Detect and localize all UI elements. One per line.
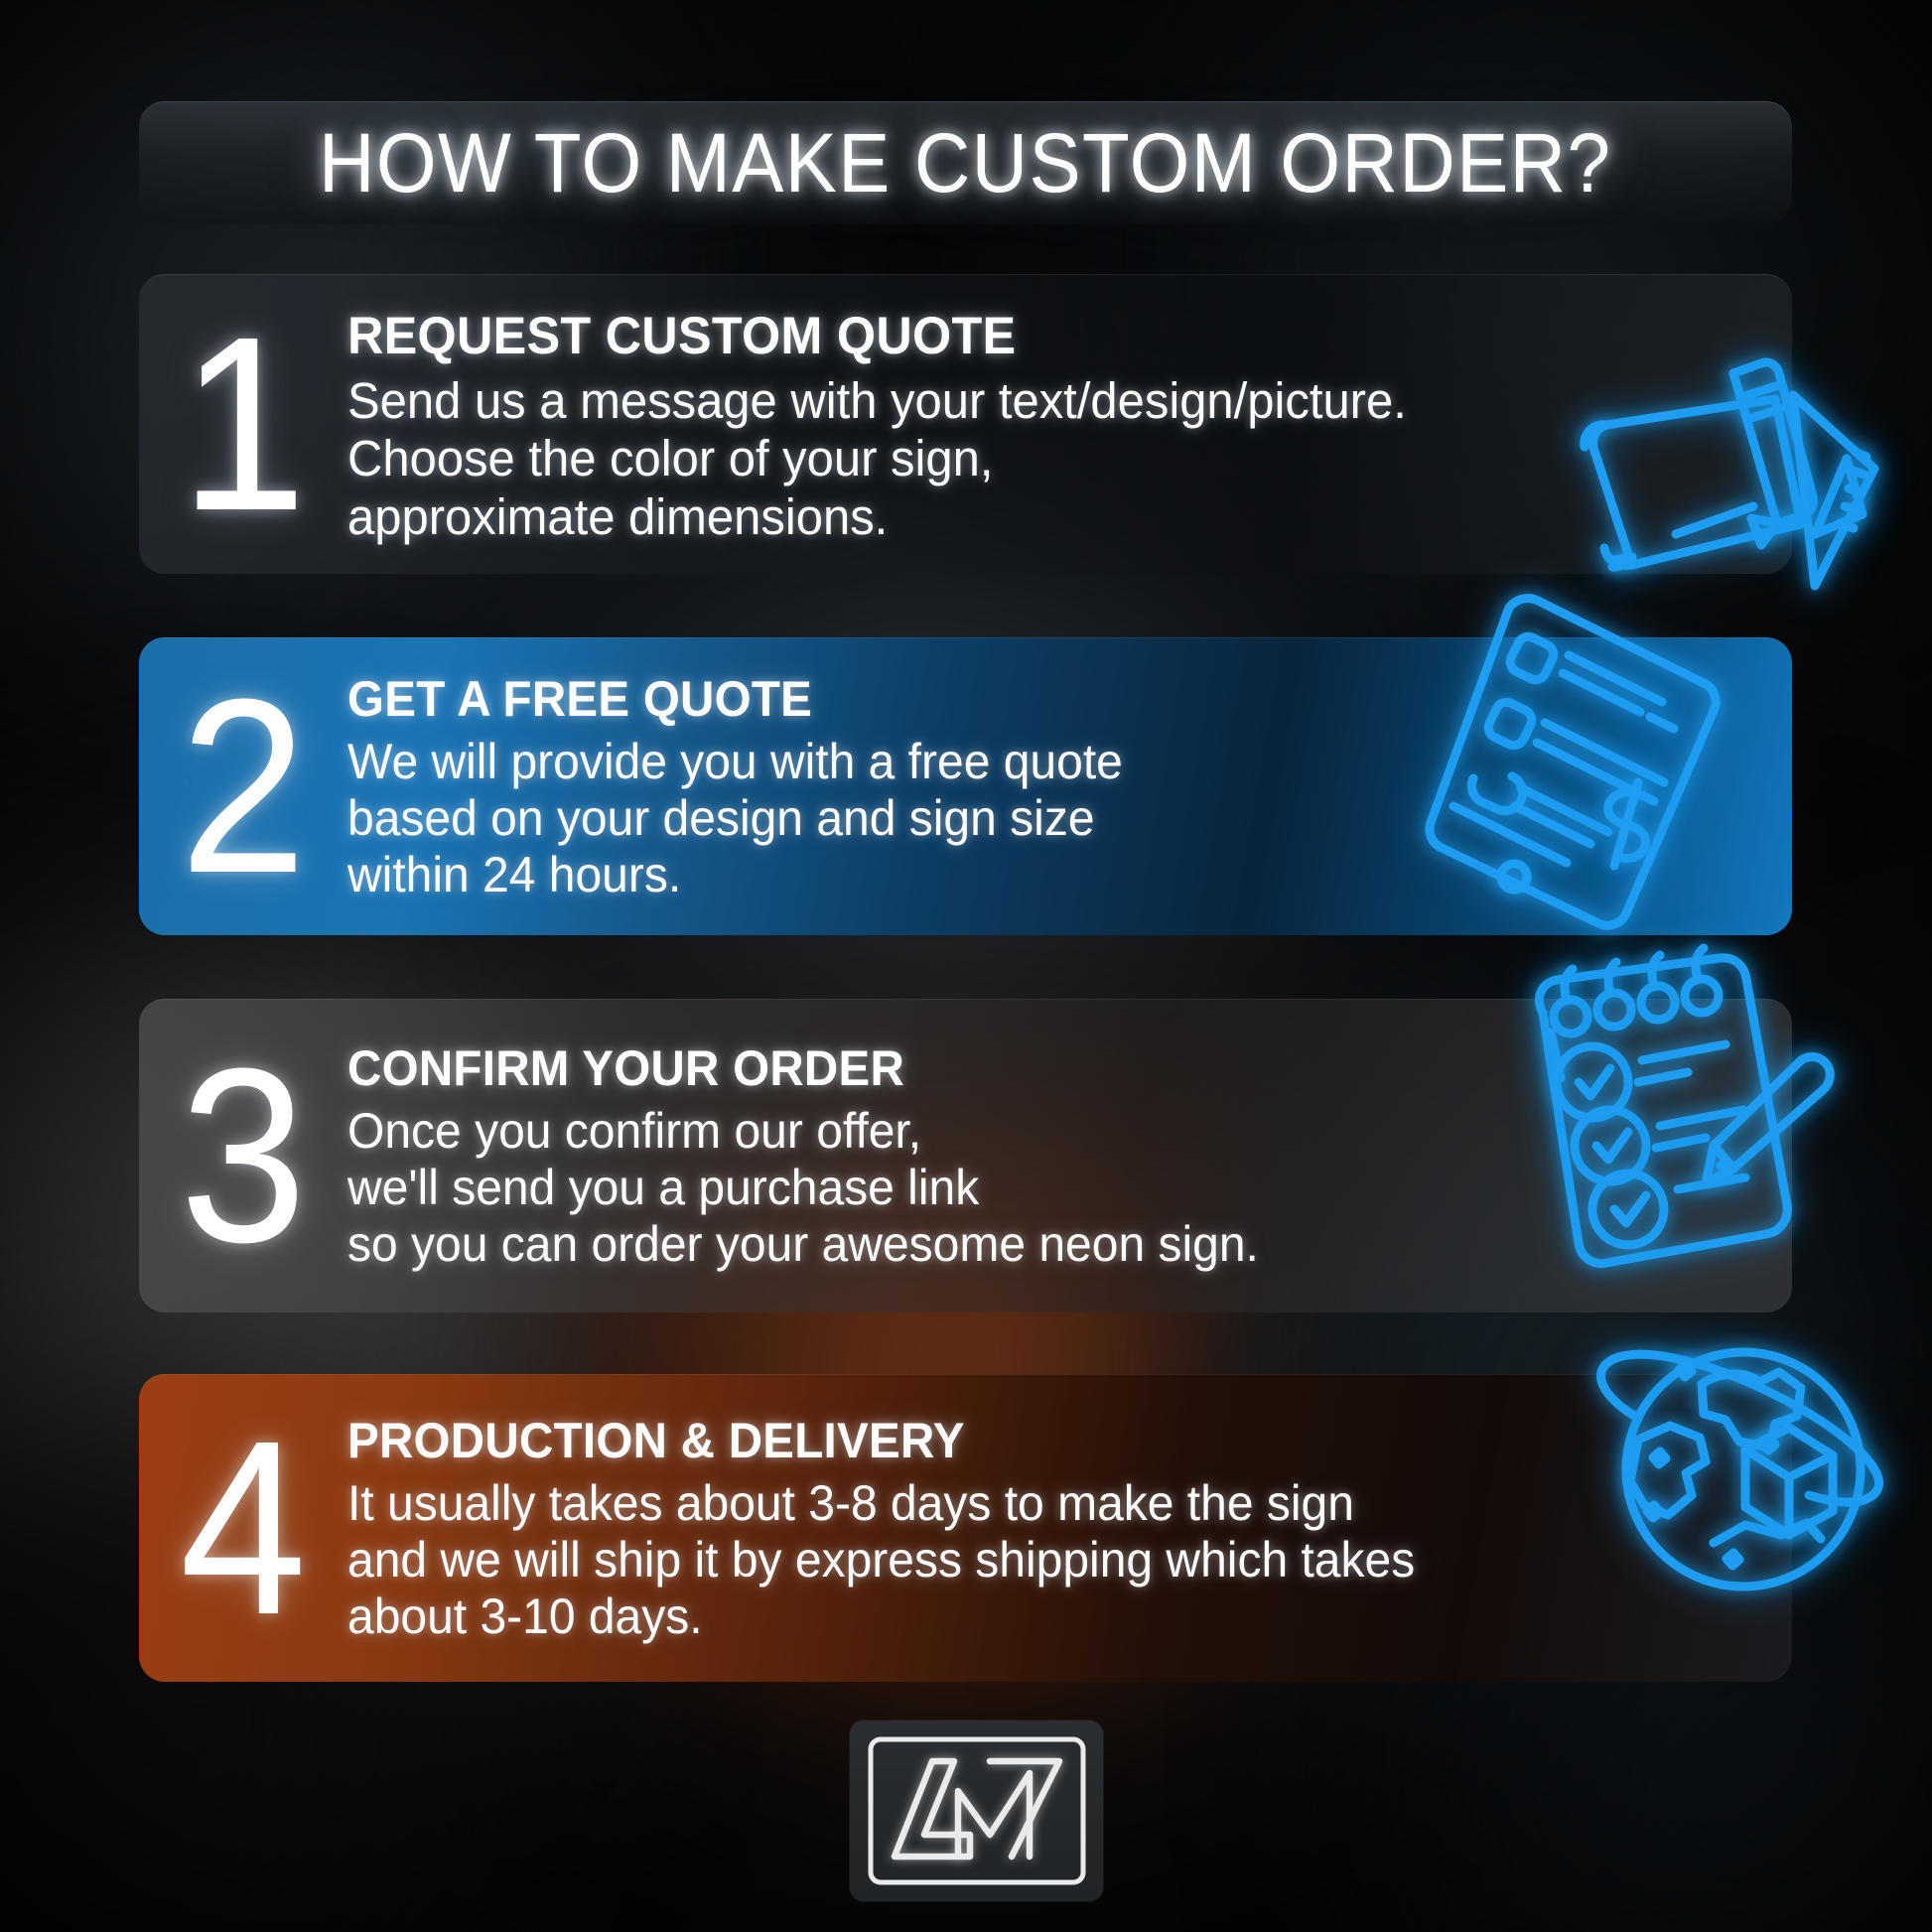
page-title: HOW TO MAKE CUSTOM ORDER? (319, 115, 1611, 211)
step-desc-line: Once you confirm our offer, (347, 1103, 1700, 1160)
step-desc-line: about 3-10 days. (347, 1588, 1700, 1645)
step-card-1: 1 REQUEST CUSTOM QUOTE Send us a message… (139, 274, 1792, 574)
step-description-4: It usually takes about 3-8 days to make … (347, 1475, 1700, 1645)
step-card-4: 4 PRODUCTION & DELIVERY It usually takes… (139, 1374, 1792, 1682)
step-title-4: PRODUCTION & DELIVERY (347, 1412, 1686, 1469)
step-number-2: 2 (147, 637, 339, 935)
page-title-card: HOW TO MAKE CUSTOM ORDER? (139, 101, 1792, 224)
step-title-3: CONFIRM YOUR ORDER (347, 1039, 1686, 1097)
step-description-2: We will provide you with a free quote ba… (347, 734, 1700, 903)
step-desc-line: Choose the color of your sign, (347, 430, 1700, 487)
step-card-3: 3 CONFIRM YOUR ORDER Once you confirm ou… (139, 999, 1792, 1312)
step-desc-line: It usually takes about 3-8 days to make … (347, 1475, 1700, 1532)
step-description-3: Once you confirm our offer, we'll send y… (347, 1103, 1700, 1273)
step-card-2: 2 GET A FREE QUOTE We will provide you w… (139, 637, 1792, 935)
step-desc-line: We will provide you with a free quote (347, 734, 1700, 790)
infographic-page: HOW TO MAKE CUSTOM ORDER? 1 REQUEST CUST… (0, 0, 1932, 1932)
step-desc-line: based on your design and sign size (347, 790, 1700, 847)
step-number-4: 4 (147, 1374, 339, 1682)
step-description-1: Send us a message with your text/design/… (347, 372, 1700, 545)
step-title-2: GET A FREE QUOTE (347, 670, 1686, 728)
step-number-1: 1 (147, 274, 339, 574)
step-number-3: 3 (147, 999, 339, 1312)
step-desc-line: and we will ship it by express shipping … (347, 1532, 1700, 1588)
step-desc-line: approximate dimensions. (347, 488, 1700, 546)
step-desc-line: we'll send you a purchase link (347, 1160, 1700, 1216)
step-desc-line: so you can order your awesome neon sign. (347, 1216, 1700, 1273)
neon-monogram-logo (850, 1721, 1103, 1901)
step-desc-line: within 24 hours. (347, 847, 1700, 903)
step-desc-line: Send us a message with your text/design/… (347, 372, 1700, 430)
step-title-1: REQUEST CUSTOM QUOTE (347, 306, 1686, 366)
